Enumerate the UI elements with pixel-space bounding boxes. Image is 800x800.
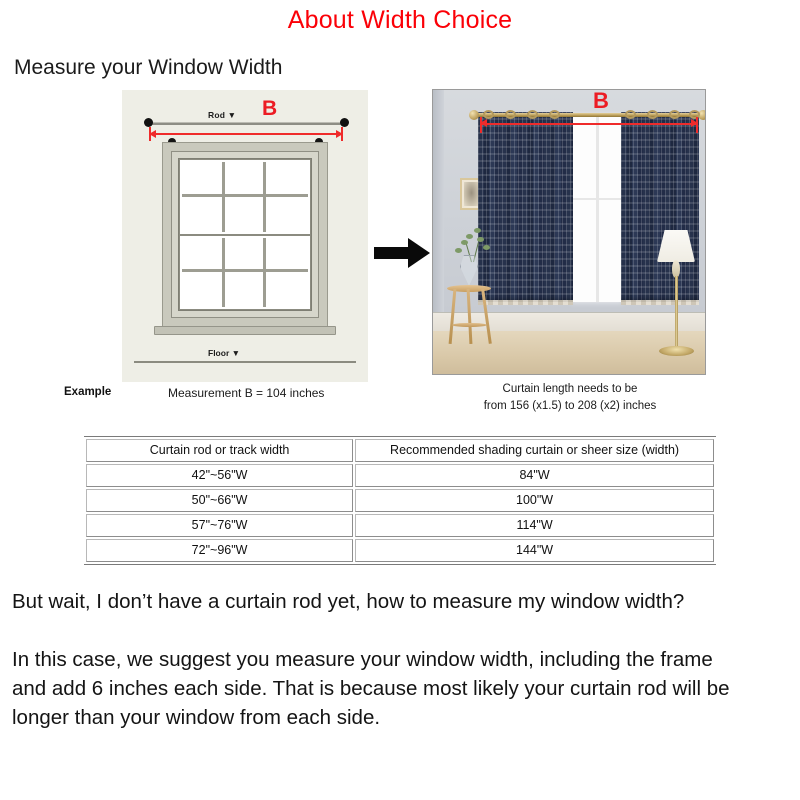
window-sash-bottom [179, 235, 311, 311]
curtain-rod-line [150, 122, 342, 125]
size-recommendation-table: Curtain rod or track width Recommended s… [84, 436, 716, 565]
rod-finial-left-icon [144, 118, 153, 127]
curtain-panel-left [478, 112, 573, 302]
measurement-tick-left [480, 117, 482, 133]
room-baseboard [433, 312, 705, 332]
measurement-b-label-left: B [262, 98, 277, 119]
window-sash-top [179, 159, 311, 235]
plant-leaf [466, 234, 473, 239]
page-root: About Width Choice Measure your Window W… [0, 0, 800, 800]
window-frame-outer [162, 142, 328, 328]
curtain-grommet-icon [689, 110, 700, 119]
page-title: About Width Choice [0, 6, 800, 35]
cell-recommended-size: 144"W [355, 539, 714, 562]
curtain-grommet-icon [669, 110, 680, 119]
curtain-grommet-icon [647, 110, 658, 119]
curtain-grommet-icon [505, 110, 516, 119]
curtain-panel-right [621, 112, 699, 302]
plant-leaf [455, 248, 462, 253]
measurement-b-label-right: B [593, 90, 609, 112]
plant-leaf [461, 240, 468, 245]
table-row: 42"~56"W 84"W [86, 464, 714, 487]
floor-line [134, 361, 356, 363]
right-arrow-icon [374, 236, 430, 270]
curtain-hem [621, 300, 699, 305]
cell-recommended-size: 84"W [355, 464, 714, 487]
window-mullion [182, 194, 308, 197]
plant-leaf [474, 228, 481, 233]
floor-label: Floor ▼ [208, 348, 240, 358]
curtain-length-caption: Curtain length needs to be from 156 (x1.… [432, 381, 708, 414]
rod-label: Rod ▼ [208, 110, 236, 120]
curtain-hem [478, 300, 573, 305]
cell-rod-width: 57"~76"W [86, 514, 353, 537]
window-mullion [182, 269, 308, 272]
photo-window [571, 116, 623, 302]
cell-recommended-size: 114"W [355, 514, 714, 537]
curtain-grommet-icon [483, 110, 494, 119]
side-table-shelf [452, 323, 487, 327]
window-glass-area [178, 158, 312, 311]
caption-line-1: Curtain length needs to be [432, 381, 708, 398]
section-subheading: Measure your Window Width [14, 56, 282, 80]
table-row: 50"~66"W 100"W [86, 489, 714, 512]
curtain-grommet-icon [549, 110, 560, 119]
floor-lamp-base [659, 346, 694, 356]
caption-line-2: from 156 (x1.5) to 208 (x2) inches [432, 398, 708, 415]
curtain-room-photo: B [432, 89, 706, 375]
plant-leaf [483, 245, 490, 250]
table-header-row: Curtain rod or track width Recommended s… [86, 439, 714, 462]
floor-lamp-pole [675, 276, 679, 352]
rod-finial-right-icon [340, 118, 349, 127]
cell-rod-width: 72"~96"W [86, 539, 353, 562]
measurement-tick-right [341, 127, 343, 141]
cell-recommended-size: 100"W [355, 489, 714, 512]
rod-finial-left-icon [469, 110, 479, 120]
table-header-rod-width: Curtain rod or track width [86, 439, 353, 462]
table-header-recommended-size: Recommended shading curtain or sheer siz… [355, 439, 714, 462]
window-mullion [571, 198, 623, 201]
answer-paragraph: In this case, we suggest you measure you… [12, 645, 732, 732]
question-paragraph: But wait, I don’t have a curtain rod yet… [12, 590, 684, 614]
plant-leaf [477, 237, 484, 242]
cell-rod-width: 42"~56"W [86, 464, 353, 487]
curtain-grommet-icon [625, 110, 636, 119]
window-mullion [596, 116, 599, 302]
measurement-tick-right [696, 117, 698, 133]
example-label: Example [64, 386, 111, 398]
example-measurement-value: Measurement B = 104 inches [168, 386, 324, 400]
measurement-arrow-left [150, 133, 342, 135]
window-measurement-diagram: Rod ▼ B [122, 90, 368, 382]
measurement-arrow-right [481, 123, 697, 125]
wall-picture-art [464, 182, 479, 206]
curtain-grommet-icon [527, 110, 538, 119]
cell-rod-width: 50"~66"W [86, 489, 353, 512]
window-frame-middle [171, 151, 319, 318]
table-row: 72"~96"W 144"W [86, 539, 714, 562]
window-sill [154, 326, 336, 335]
measurement-tick-left [149, 127, 151, 141]
table-row: 57"~76"W 114"W [86, 514, 714, 537]
